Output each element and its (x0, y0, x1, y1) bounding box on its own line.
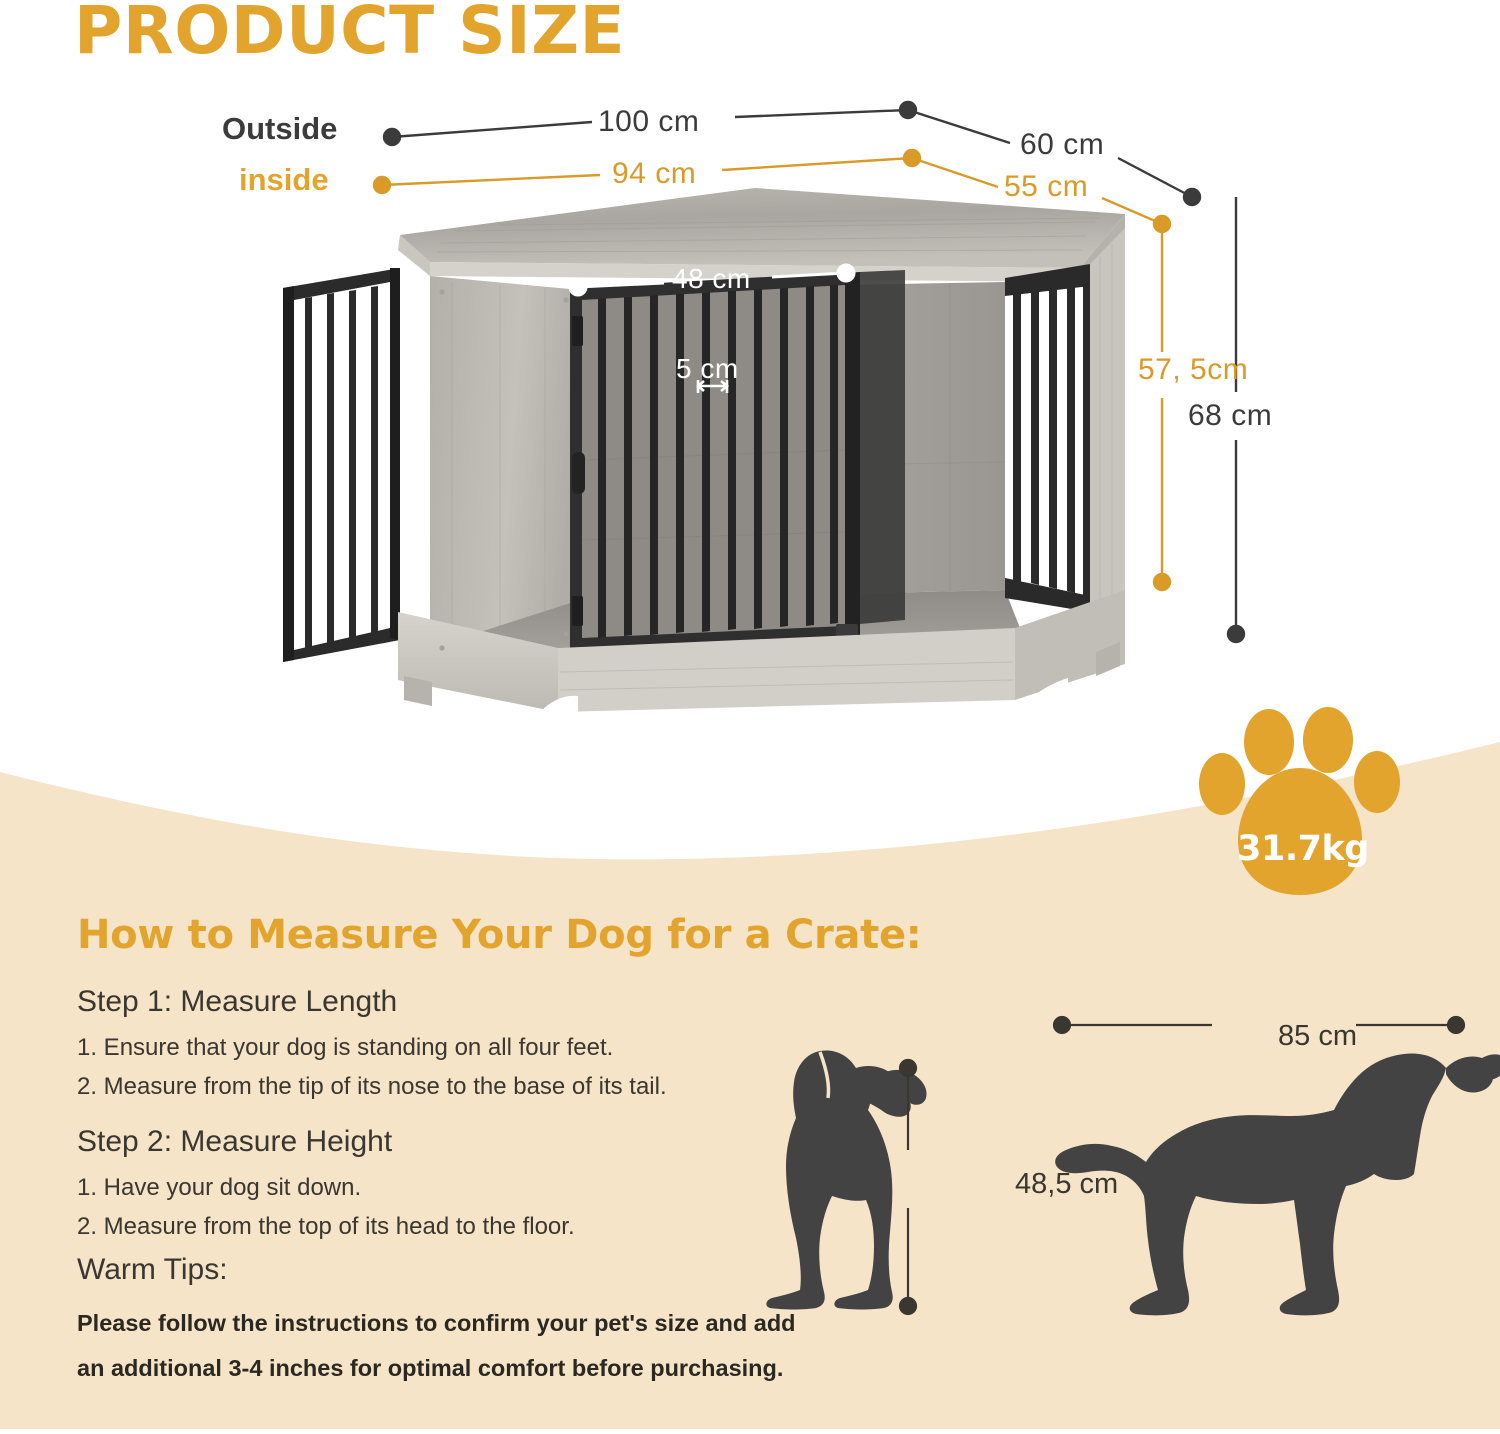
dimension-height-outside: 68 cm (1188, 399, 1272, 433)
dimension-height-inside: 57, 5cm (1138, 353, 1248, 387)
dog-sitting-silhouette-icon (766, 1051, 926, 1310)
legend-outside-label: Outside (222, 111, 337, 147)
dog-measurement-diagram (760, 990, 1500, 1350)
warm-tips-line-1: Please follow the instructions to confir… (77, 1310, 796, 1337)
warm-tips-line-2: an additional 3-4 inches for optimal com… (77, 1355, 783, 1382)
step1-line-1: 1. Ensure that your dog is standing on a… (77, 1034, 613, 1062)
step1-heading: Step 1: Measure Length (77, 985, 397, 1019)
weight-value: 31.7kg (1196, 829, 1410, 869)
guide-title: How to Measure Your Dog for a Crate: (77, 912, 921, 958)
step2-line-2: 2. Measure from the top of its head to t… (77, 1213, 575, 1241)
warm-tips-heading: Warm Tips: (77, 1253, 228, 1287)
dog-standing-silhouette-icon (1055, 1054, 1500, 1316)
dog-length-label: 85 cm (1278, 1020, 1357, 1053)
step1-line-2: 2. Measure from the tip of its nose to t… (77, 1073, 667, 1101)
step2-line-1: 1. Have your dog sit down. (77, 1174, 361, 1202)
dimension-width-inside: 94 cm (612, 157, 696, 191)
dimension-bar-spacing: 5 cm (676, 353, 739, 385)
dog-height-label: 48,5 cm (1015, 1168, 1118, 1201)
weight-paw-badge: 31.7kg (1196, 706, 1410, 904)
legend-inside-label: inside (239, 162, 329, 198)
dimension-depth-outside: 60 cm (1020, 128, 1104, 162)
paw-print-icon (1196, 706, 1410, 904)
dimension-door-width: 48 cm (672, 263, 751, 295)
step2-heading: Step 2: Measure Height (77, 1125, 392, 1159)
dimension-width-outside: 100 cm (598, 105, 699, 139)
dimension-depth-inside: 55 cm (1004, 170, 1088, 204)
